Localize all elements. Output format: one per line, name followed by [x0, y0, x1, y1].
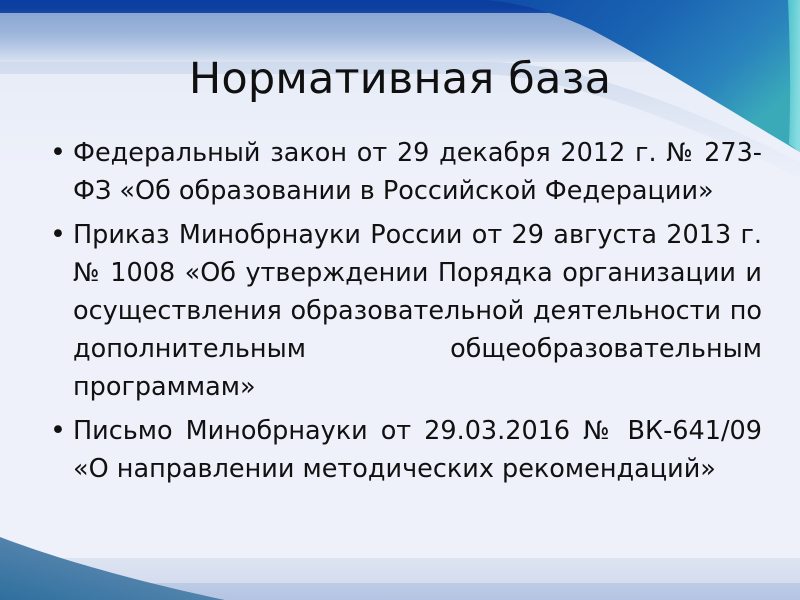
bottom-left-blue-curve: [0, 537, 225, 600]
list-item: • Письмо Минобрнауки от 29.03.2016 № ВК-…: [40, 412, 762, 488]
page-title: Нормативная база: [40, 57, 760, 102]
list-item: • Федеральный закон от 29 декабря 2012 г…: [40, 134, 762, 210]
bullet-point-icon: •: [40, 134, 73, 172]
bottom-gradient-band-lower: [0, 583, 800, 600]
bullet-text-order-1008: Приказ Минобрнауки России от 29 августа …: [73, 216, 762, 406]
list-item: • Приказ Минобрнауки России от 29 август…: [40, 216, 762, 406]
bullet-point-icon: •: [40, 216, 73, 254]
bottom-gradient-band-upper: [0, 558, 800, 583]
bullet-text-federal-law-273-fz: Федеральный закон от 29 декабря 2012 г. …: [73, 134, 762, 210]
top-accent-strip: [0, 0, 800, 13]
slide: Нормативная база • Федеральный закон от …: [0, 0, 800, 600]
top-right-teal-edge: [788, 0, 800, 152]
bullet-point-icon: •: [40, 412, 73, 450]
bullet-list: • Федеральный закон от 29 декабря 2012 г…: [40, 134, 762, 494]
bullet-text-letter-vk-641-09: Письмо Минобрнауки от 29.03.2016 № ВК-64…: [73, 412, 762, 488]
